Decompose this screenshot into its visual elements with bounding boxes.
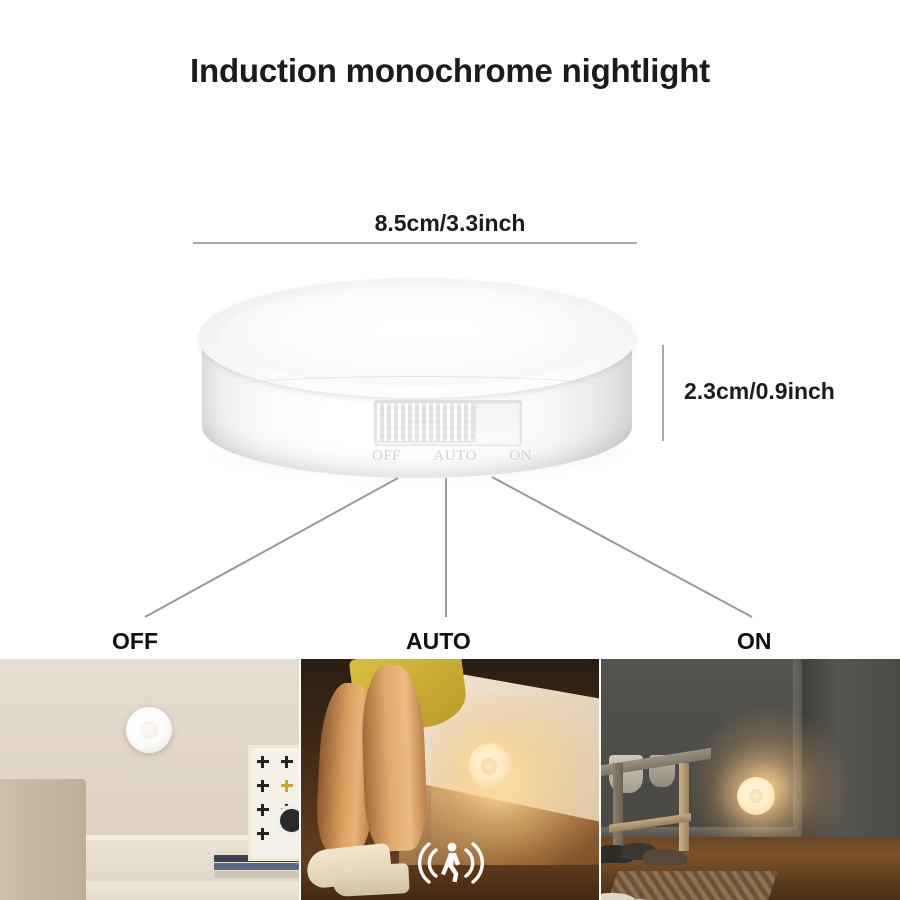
product-infographic: Induction monochrome nightlight 8.5cm/3.…	[0, 0, 900, 900]
nightlight-sensor-dot	[479, 756, 497, 776]
nightlight-device-on-wall	[126, 707, 172, 753]
shoe-rack-leg	[613, 763, 623, 851]
framed-picture	[248, 745, 299, 861]
picture-plus-motif	[281, 756, 293, 768]
picture-plus-motif	[281, 780, 293, 792]
nightstand-drawer	[78, 881, 299, 900]
picture-plus-motif	[257, 804, 269, 816]
photo-dark-entryway	[601, 659, 900, 900]
picture-plus-motif	[257, 828, 269, 840]
photo-bedroom-nightstand	[0, 659, 299, 900]
slipper	[332, 863, 409, 897]
motion-sensor-icon	[416, 837, 486, 889]
callout-label-off: OFF	[112, 628, 158, 655]
callout-label-on: ON	[737, 628, 772, 655]
shoe	[643, 849, 687, 866]
book	[214, 863, 299, 870]
woven-rug	[609, 871, 778, 900]
photo-strip	[0, 659, 900, 900]
picture-plus-motif	[257, 756, 269, 768]
shoe-rack	[601, 757, 717, 851]
bed-frame	[0, 779, 86, 900]
nightlight-sensor-dot	[140, 721, 158, 739]
book	[214, 871, 299, 878]
callout-label-auto: AUTO	[406, 628, 471, 655]
leader-line-off	[145, 478, 398, 617]
picture-plus-motif	[257, 780, 269, 792]
photo-motion-sensing	[301, 659, 600, 900]
shoe-rack-leg	[679, 763, 689, 851]
leader-line-on	[492, 477, 752, 617]
nightlight-sensor-dot	[749, 789, 763, 803]
